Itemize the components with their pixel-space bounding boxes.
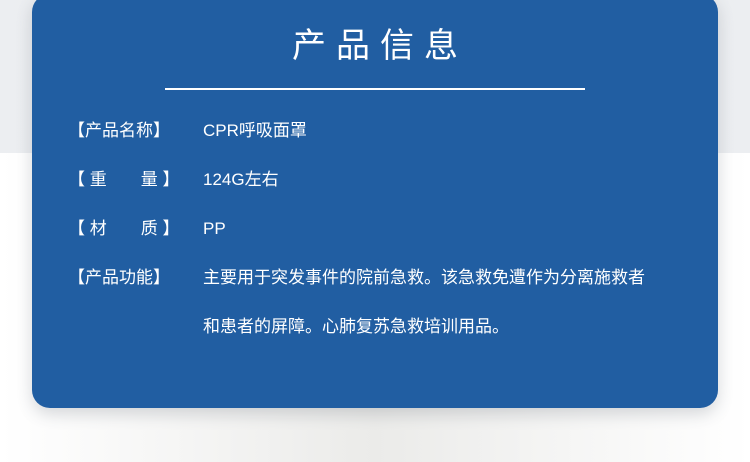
- spec-value: 主要用于突发事件的院前急救。该急救免遭作为分离施救者和患者的屏障。心肺复苏急救培…: [203, 253, 645, 351]
- page-title: 产品信息: [32, 0, 718, 67]
- spec-label: 【产品功能】: [68, 253, 203, 302]
- title-divider: [165, 88, 585, 90]
- spec-row-material: 【 材 质 】 PP: [68, 204, 688, 253]
- spec-row-weight: 【 重 量 】 124G左右: [68, 155, 688, 204]
- spec-value: CPR呼吸面罩: [203, 106, 688, 155]
- spec-label: 【 重 量 】: [68, 155, 203, 204]
- product-info-card: 产品信息 【产品名称】 CPR呼吸面罩 【 重 量 】 124G左右 【 材 质…: [32, 0, 718, 408]
- product-info-page: 产品信息 【产品名称】 CPR呼吸面罩 【 重 量 】 124G左右 【 材 质…: [0, 0, 750, 462]
- spec-label: 【 材 质 】: [68, 204, 203, 253]
- spec-value: PP: [203, 204, 688, 253]
- product-spec-list: 【产品名称】 CPR呼吸面罩 【 重 量 】 124G左右 【 材 质 】 PP…: [68, 106, 688, 351]
- spec-value: 124G左右: [203, 155, 688, 204]
- spec-label: 【产品名称】: [68, 106, 203, 155]
- spec-row-product-name: 【产品名称】 CPR呼吸面罩: [68, 106, 688, 155]
- spec-row-product-function: 【产品功能】 主要用于突发事件的院前急救。该急救免遭作为分离施救者和患者的屏障。…: [68, 253, 688, 351]
